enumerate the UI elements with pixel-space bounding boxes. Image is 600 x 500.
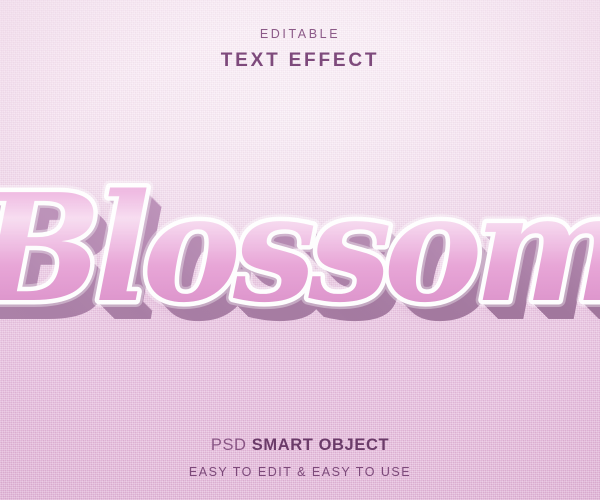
header-block: EDITABLE TEXT EFFECT [0,28,600,70]
artwork-group [0,150,600,354]
artwork-stage: Blossom [0,0,600,500]
background-noise-texture [0,0,600,500]
word-drop-shadow [0,161,600,335]
background-glow [0,0,600,500]
kicker-label: EDITABLE [0,28,600,41]
footer-feature-label: SMART OBJECT [252,436,389,454]
text-effect-mockup: EDITABLE TEXT EFFECT [0,0,600,500]
footer-format-label: PSD [211,436,247,454]
word-white-outline [0,161,600,335]
blossom-artwork: Blossom [0,0,600,500]
footer-block: PSD SMART OBJECT EASY TO EDIT & EASY TO … [0,437,600,478]
word-face [0,161,600,335]
background-vignette [0,0,600,500]
word-bevel-highlight [0,150,600,260]
footer-headline: PSD SMART OBJECT [0,437,600,454]
page-title: TEXT EFFECT [0,51,600,70]
background-noise-texture-bottom [0,0,600,500]
word-extrusion [0,165,600,354]
footer-tagline: EASY TO EDIT & EASY TO USE [0,466,600,479]
